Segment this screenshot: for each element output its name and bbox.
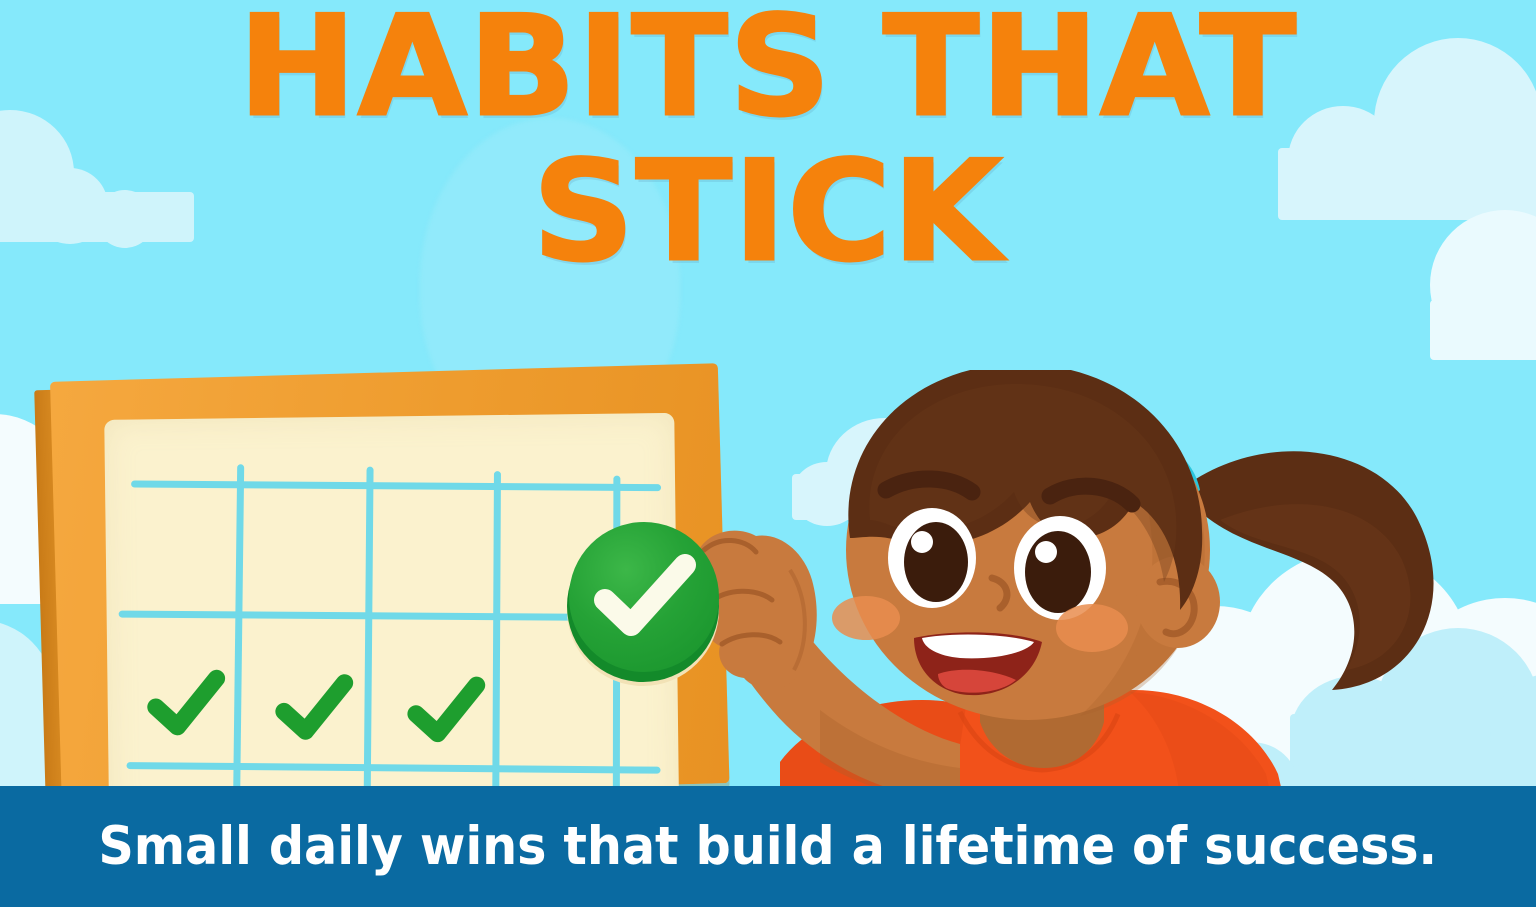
bottom-banner: Small daily wins that build a lifetime o… — [0, 786, 1536, 907]
smiling-girl-character — [660, 370, 1480, 800]
grid-line-horizontal — [131, 480, 661, 491]
badge-check-icon — [569, 522, 719, 672]
cloud-right-edge — [1430, 200, 1536, 360]
cloud-top-right — [1278, 38, 1536, 218]
poster-canvas: HABITS THAT STICK — [0, 0, 1536, 907]
cloud-top-left — [0, 110, 194, 242]
grid-line-horizontal — [127, 762, 661, 774]
badge-face — [569, 522, 719, 672]
green-check-badge[interactable] — [563, 520, 723, 680]
checkmark-icon — [270, 663, 360, 753]
head — [832, 364, 1220, 720]
ponytail — [1180, 451, 1434, 690]
banner-tagline: Small daily wins that build a lifetime o… — [99, 816, 1438, 877]
checkmark-icon — [142, 659, 232, 749]
checkmark-icon — [402, 666, 492, 756]
